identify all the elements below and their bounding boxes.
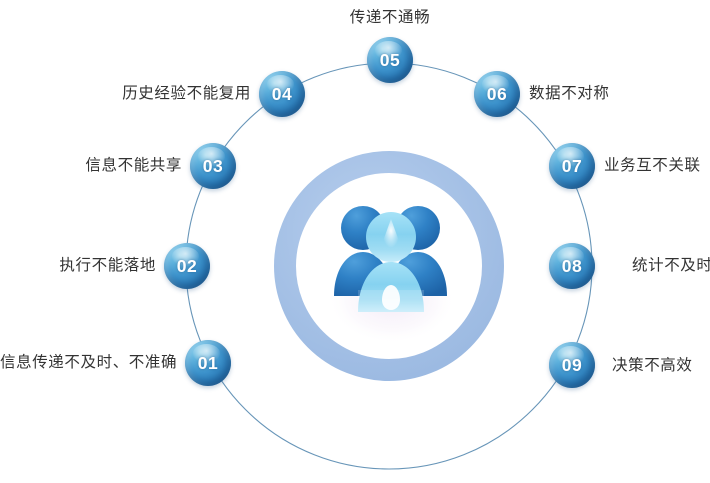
node-sphere-04[interactable]: 04 [259,71,305,117]
diagram-canvas: 01 02 03 04 05 06 07 08 09 信息传递 [0,0,710,483]
node-label-08: 统计不及时 [632,258,710,274]
node-sphere-06[interactable]: 06 [474,71,520,117]
node-sphere-05[interactable]: 05 [367,37,413,83]
node-number: 06 [487,84,507,105]
node-label-07: 业务互不关联 [604,158,710,174]
node-number: 02 [177,256,197,277]
node-sphere-07[interactable]: 07 [549,143,595,189]
node-number: 08 [562,256,582,277]
node-number: 07 [562,156,582,177]
node-label-04: 历史经验不能复用 [0,86,251,102]
node-label-01: 信息传递不及时、不准确 [0,355,176,371]
node-number: 01 [198,353,218,374]
diagram-graphics [0,0,710,483]
node-number: 09 [562,355,582,376]
node-label-05: 传递不通畅 [310,10,470,26]
node-label-03: 信息不能共享 [0,158,182,174]
node-number: 03 [203,156,223,177]
node-label-09: 决策不高效 [612,358,710,374]
node-label-02: 执行不能落地 [0,258,156,274]
node-sphere-08[interactable]: 08 [549,243,595,289]
node-sphere-03[interactable]: 03 [190,143,236,189]
node-label-06: 数据不对称 [529,86,709,102]
node-number: 05 [380,50,400,71]
node-number: 04 [272,84,292,105]
node-sphere-01[interactable]: 01 [185,340,231,386]
node-sphere-09[interactable]: 09 [549,342,595,388]
node-sphere-02[interactable]: 02 [164,243,210,289]
